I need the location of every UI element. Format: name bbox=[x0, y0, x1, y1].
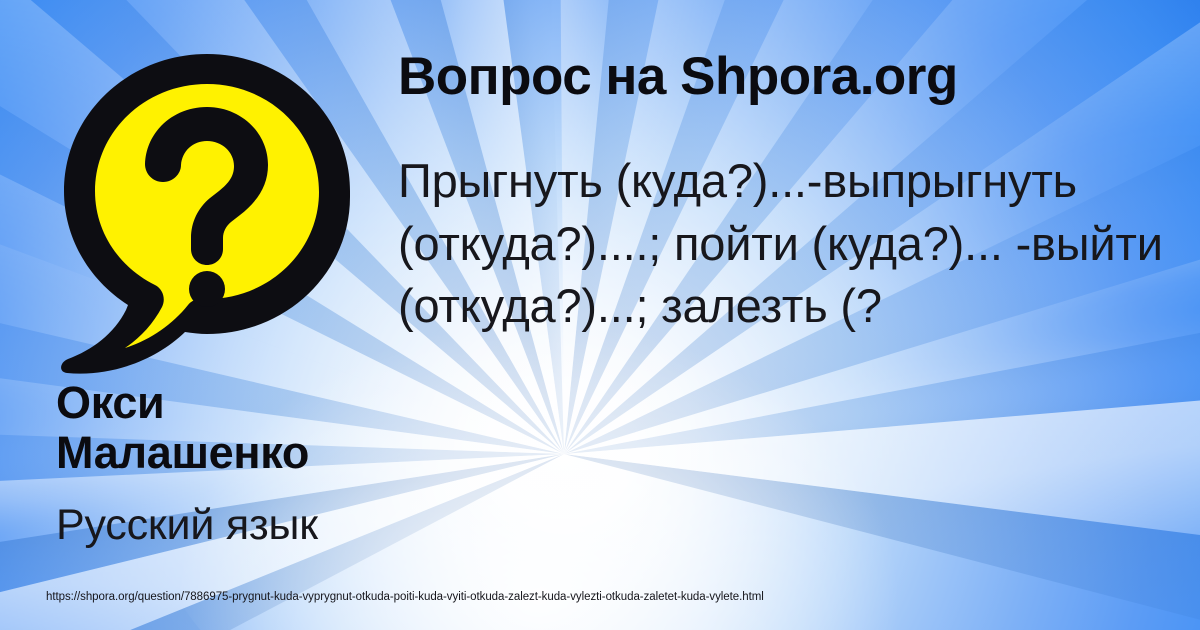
page-title: Вопрос на Shpora.org bbox=[398, 48, 1188, 105]
question-speech-bubble-icon bbox=[52, 46, 362, 376]
question-mark-icon bbox=[52, 46, 362, 376]
author-name: Окси Малашенко bbox=[56, 378, 396, 479]
card-content: Вопрос на Shpora.org Прыгнуть (куда?)...… bbox=[0, 0, 1200, 630]
subject-label: Русский язык bbox=[56, 502, 416, 549]
question-preview-card: Вопрос на Shpora.org Прыгнуть (куда?)...… bbox=[0, 0, 1200, 630]
question-text: Прыгнуть (куда?)...-выпрыгнуть (откуда?)… bbox=[398, 150, 1198, 338]
source-url[interactable]: https://shpora.org/question/7886975-pryg… bbox=[46, 591, 764, 603]
